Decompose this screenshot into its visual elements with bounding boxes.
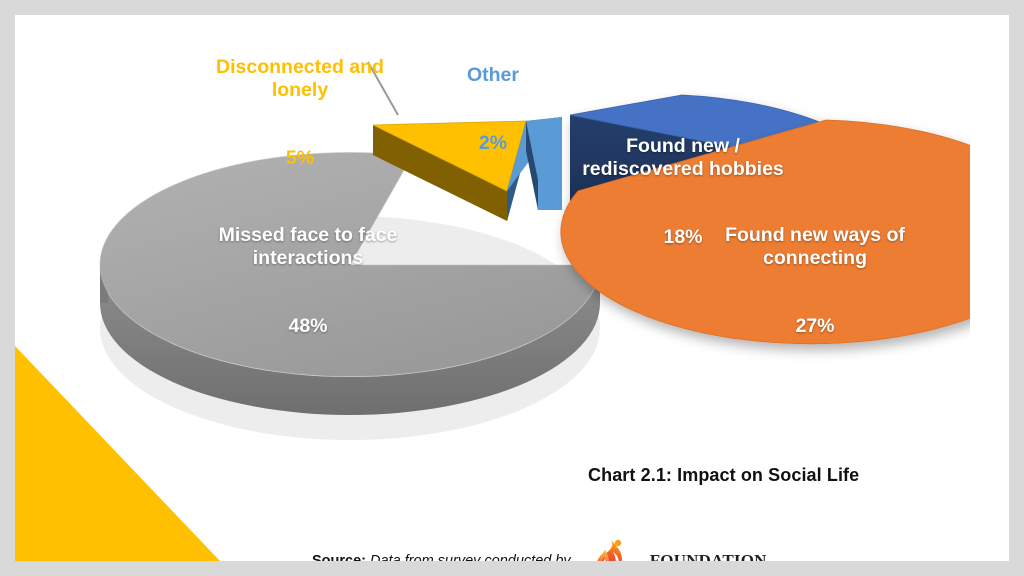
flame-icon: ST P	[585, 538, 647, 561]
pie-chart[interactable]: Missed face to face interactions 48% Fou…	[15, 15, 1009, 561]
step-foundation-logo: ST P FOUNDATION	[585, 538, 767, 561]
slide-canvas: Missed face to face interactions 48% Fou…	[15, 15, 1009, 561]
slice-label-percent: 27%	[795, 315, 834, 337]
slice-label-percent: 48%	[288, 315, 327, 337]
slice-label-text: Missed face to face interactions	[219, 224, 398, 269]
chart-caption: Chart 2.1: Impact on Social Life	[588, 465, 859, 486]
slice-label-missed-face-to-face: Missed face to face interactions 48%	[163, 201, 453, 338]
brand-wordmark: FOUNDATION	[650, 551, 767, 561]
slide-frame: Missed face to face interactions 48% Fou…	[0, 0, 1024, 576]
slice-label-text: Other	[467, 64, 519, 86]
source-text: Data from survey conducted by	[370, 553, 571, 561]
slice-label-percent: 2%	[479, 132, 507, 154]
slice-label-other: Other 2%	[433, 41, 553, 155]
slice-label-disconnected-lonely: Disconnected and lonely 5%	[180, 33, 420, 170]
source-label: Source:	[312, 553, 366, 561]
slice-label-text: Disconnected and lonely	[216, 56, 384, 101]
source-attribution: Source: Data from survey conducted by	[312, 538, 767, 561]
slice-label-text: Found new ways of connecting	[725, 224, 905, 269]
slice-label-text: Found new / rediscovered hobbies	[582, 135, 784, 180]
slice-label-percent: 5%	[286, 147, 314, 169]
slice-label-found-new-ways: Found new ways of connecting 27%	[670, 201, 960, 338]
